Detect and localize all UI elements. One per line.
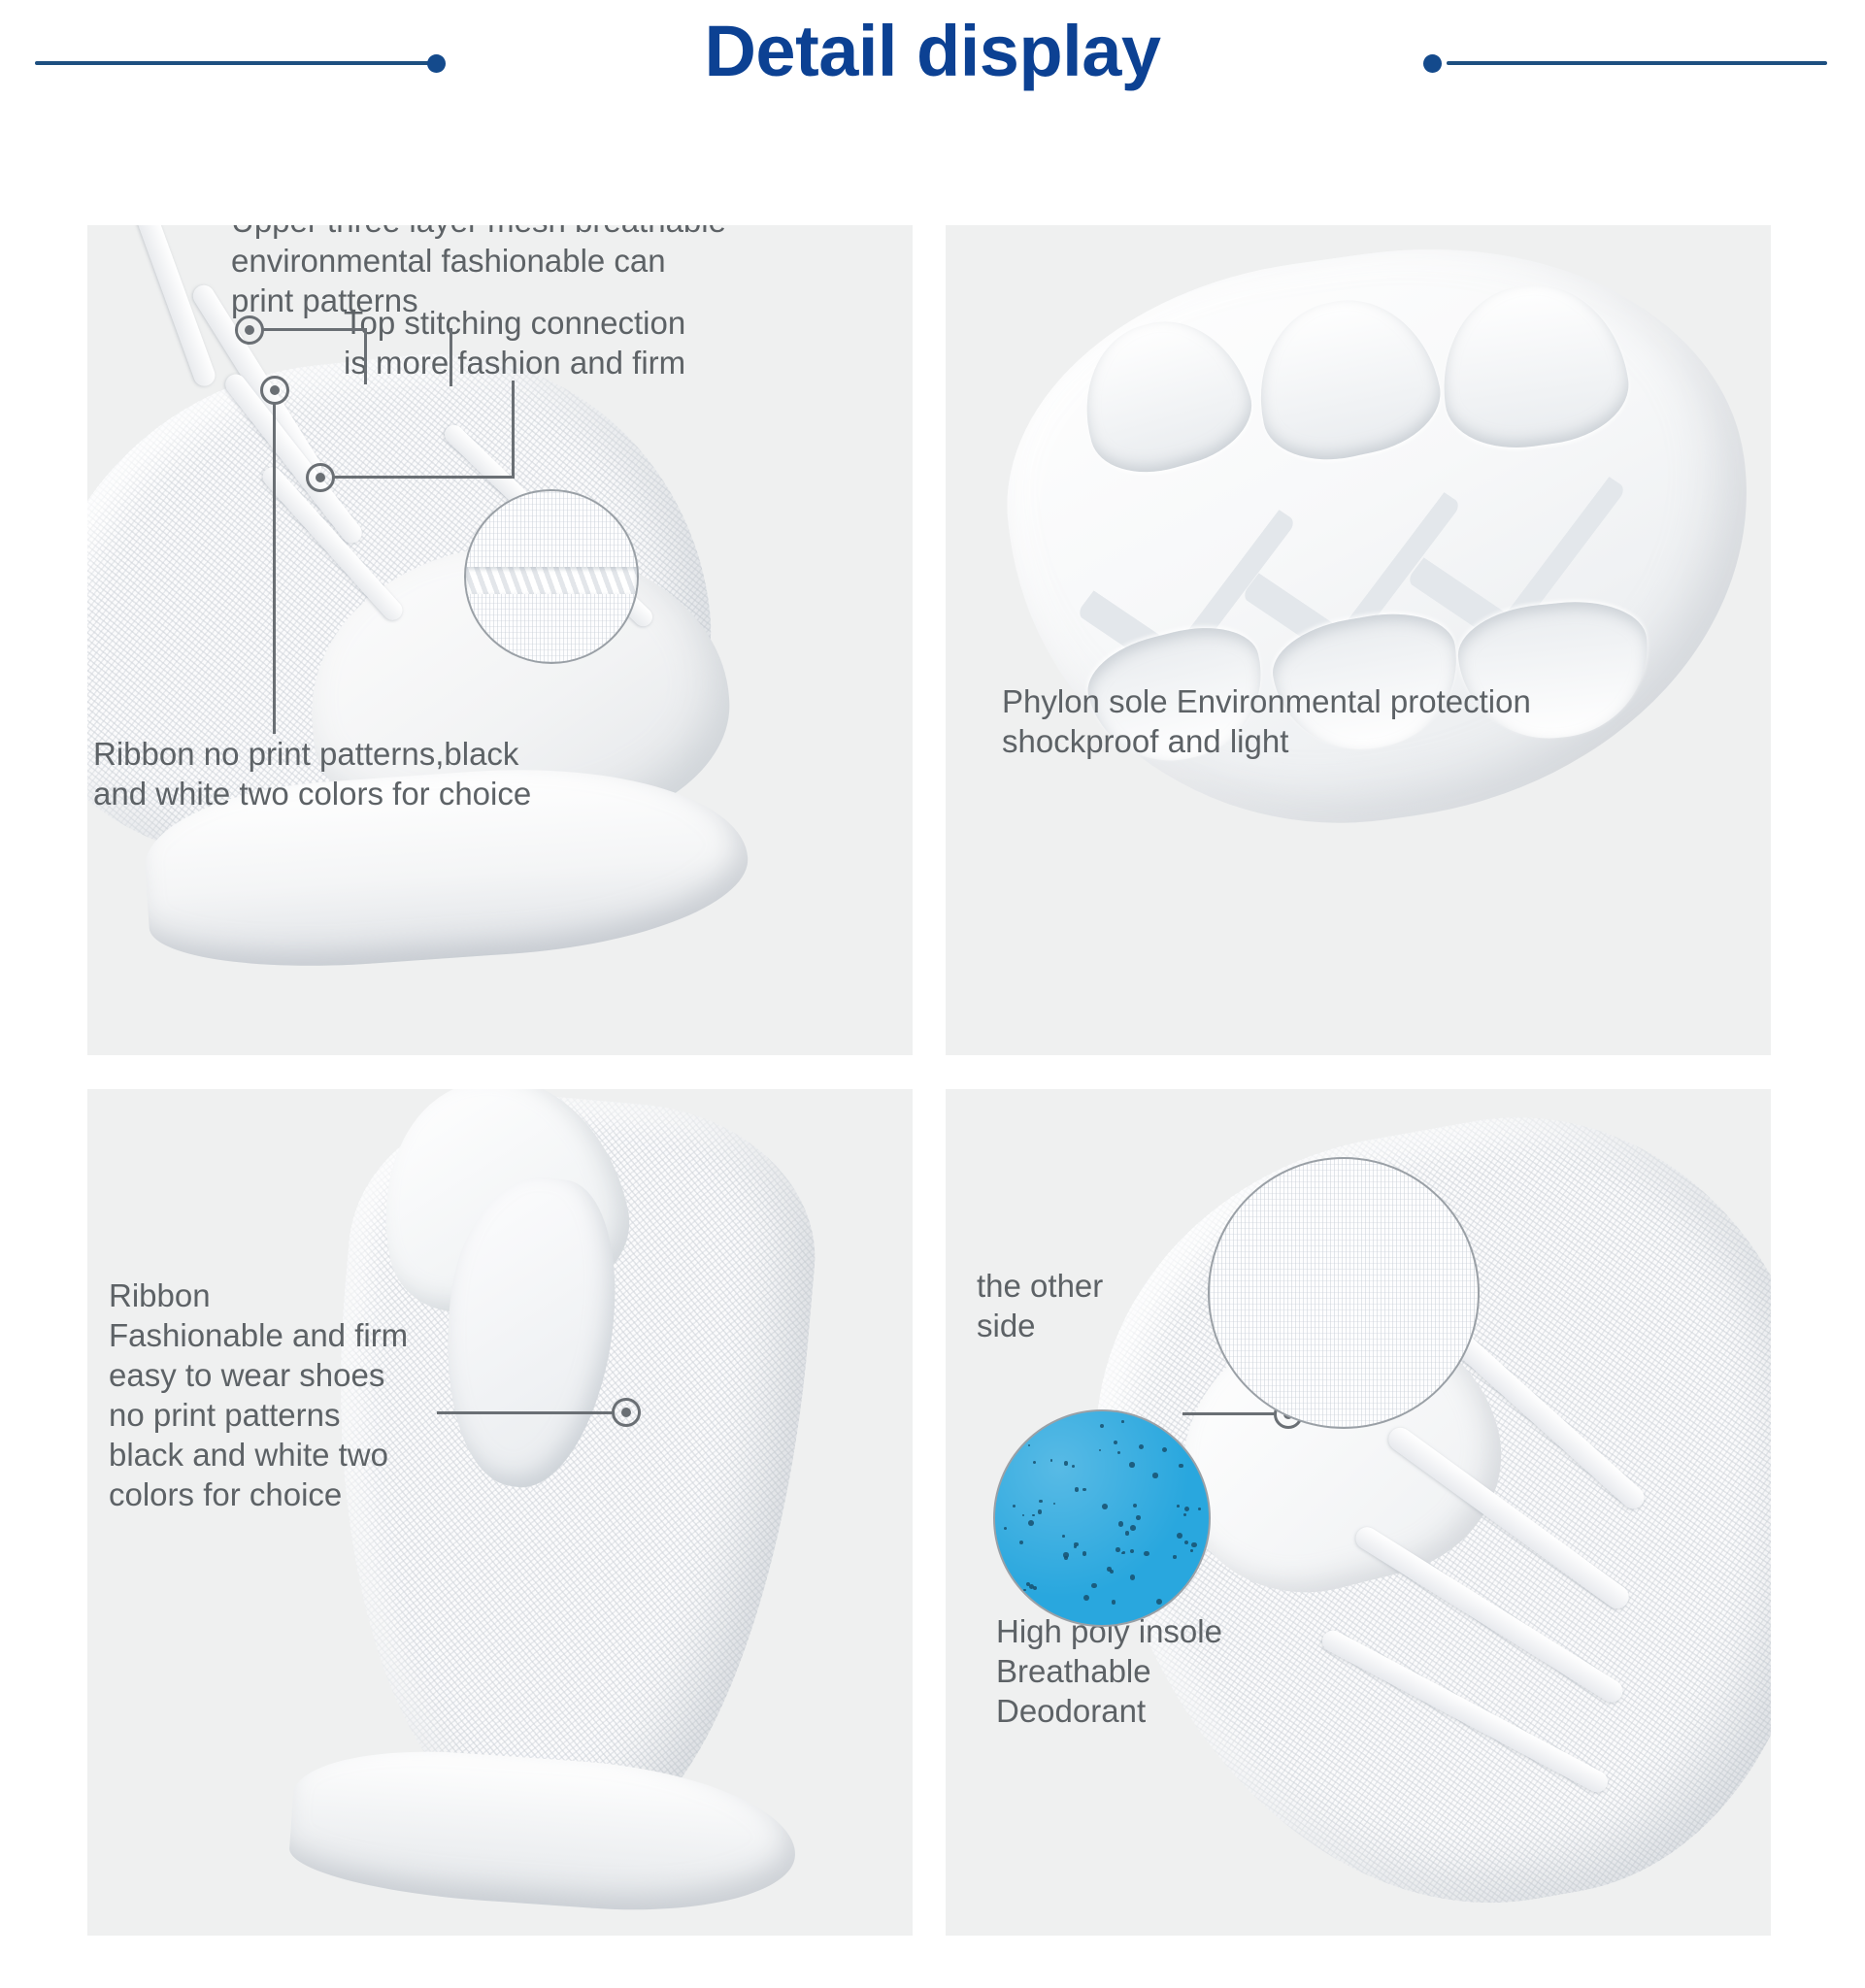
insole-speck (1144, 1551, 1149, 1556)
insole-speck (1083, 1595, 1089, 1601)
insole-speck (1198, 1508, 1201, 1510)
insole-speck (1152, 1473, 1158, 1478)
insole-speck (1063, 1552, 1068, 1557)
insole-speck (1038, 1612, 1041, 1615)
insole-speck (1114, 1441, 1117, 1444)
insole-speck (1062, 1535, 1065, 1538)
insole-speck (1139, 1444, 1144, 1449)
insole-speck (1136, 1515, 1141, 1520)
page-header: Detail display (0, 0, 1865, 146)
ribbon-note: Ribbon no print patterns,black and white… (93, 734, 637, 813)
insole-speck (1130, 1549, 1134, 1553)
insole-speck (1075, 1487, 1079, 1491)
other-side-note: the other side (977, 1266, 1229, 1345)
insole-speck (1191, 1595, 1195, 1599)
insole-speck (1033, 1586, 1038, 1591)
insole-speck (1102, 1504, 1108, 1509)
insole-speck (1004, 1527, 1007, 1530)
leader-line (263, 328, 366, 331)
callout-marker-ribbon[interactable] (260, 376, 289, 405)
insole-speck (1100, 1424, 1104, 1428)
insole-speck (1053, 1503, 1056, 1506)
insole-speck (1191, 1542, 1197, 1548)
page-title: Detail display (0, 10, 1865, 92)
insole-speck (1162, 1447, 1167, 1452)
mesh-detail-circle (1208, 1157, 1480, 1429)
header-dot-right (1423, 54, 1442, 73)
insole-speck (1013, 1505, 1016, 1508)
insole-speck (1177, 1533, 1182, 1539)
insole-speck (1028, 1520, 1034, 1526)
insole-blue-swatch (993, 1409, 1211, 1627)
leader-line (512, 381, 515, 478)
panel-phylon-sole: Phylon sole Environmental protection sho… (946, 225, 1771, 1055)
top-stitching-note: Top stitching connection is more fashion… (344, 303, 790, 382)
insole-speck (1039, 1500, 1043, 1504)
leader-line (437, 1411, 614, 1414)
insole-speck (1133, 1504, 1137, 1508)
insole-speck (1129, 1462, 1135, 1468)
insole-speck (1125, 1531, 1129, 1535)
leader-line (450, 328, 452, 386)
insole-speck (1121, 1420, 1124, 1423)
phylon-sole-note: Phylon sole Environmental protection sho… (1002, 681, 1769, 761)
insole-speck (1019, 1541, 1023, 1544)
insole-speck (1117, 1451, 1120, 1454)
insole-speck (1091, 1583, 1096, 1588)
insole-speck (1050, 1459, 1052, 1461)
insole-speck (1184, 1541, 1188, 1544)
insole-speck (1190, 1549, 1193, 1552)
panel-upper-mesh: Upper three layer mesh breathable enviro… (87, 225, 913, 1055)
insole-speck (1130, 1525, 1136, 1531)
insole-speck (1163, 1615, 1167, 1619)
shoe-midsole (286, 1741, 800, 1922)
leader-line (1182, 1412, 1276, 1415)
ribbon-collar-note: Ribbon Fashionable and firm easy to wear… (109, 1276, 526, 1514)
insole-speck (1112, 1600, 1116, 1605)
callout-marker-stitch[interactable] (306, 463, 335, 492)
insole-speck (1064, 1461, 1068, 1465)
insole-speck (1023, 1589, 1026, 1592)
insole-speck (1038, 1509, 1043, 1514)
header-rule-right (1447, 61, 1827, 65)
insole-note: High poly insole Breathable Deodorant (996, 1611, 1326, 1731)
insole-speck (1156, 1599, 1162, 1605)
insole-speck (1173, 1555, 1176, 1558)
detail-panel-grid: Upper three layer mesh breathable enviro… (87, 225, 1771, 1936)
insole-speck (1184, 1507, 1189, 1511)
insole-speck (1082, 1551, 1087, 1556)
stitching-detail-circle (464, 489, 639, 664)
insole-speck (1177, 1505, 1180, 1508)
insole-speck (1107, 1567, 1112, 1572)
insole-speck (1072, 1465, 1075, 1468)
insole-speck (1033, 1461, 1036, 1464)
leader-line (334, 476, 515, 479)
insole-speck (1183, 1513, 1186, 1516)
leader-line (364, 328, 367, 384)
insole-speck (1074, 1542, 1079, 1547)
insole-speck (1082, 1488, 1085, 1491)
insole-speck (1118, 1521, 1123, 1526)
callout-marker-mesh[interactable] (235, 315, 264, 345)
callout-marker-ribbon-collar[interactable] (612, 1398, 641, 1427)
insole-speck (1032, 1514, 1035, 1517)
panel-ribbon-collar: Ribbon Fashionable and firm easy to wear… (87, 1089, 913, 1936)
insole-speck (1028, 1444, 1031, 1447)
insole-speck (1179, 1464, 1183, 1469)
leader-line (273, 404, 276, 734)
insole-speck (1022, 1514, 1024, 1516)
insole-speck (1099, 1449, 1101, 1451)
outsole-photo (946, 225, 1771, 1055)
insole-speck (1116, 1547, 1120, 1552)
insole-speck (1130, 1574, 1136, 1580)
